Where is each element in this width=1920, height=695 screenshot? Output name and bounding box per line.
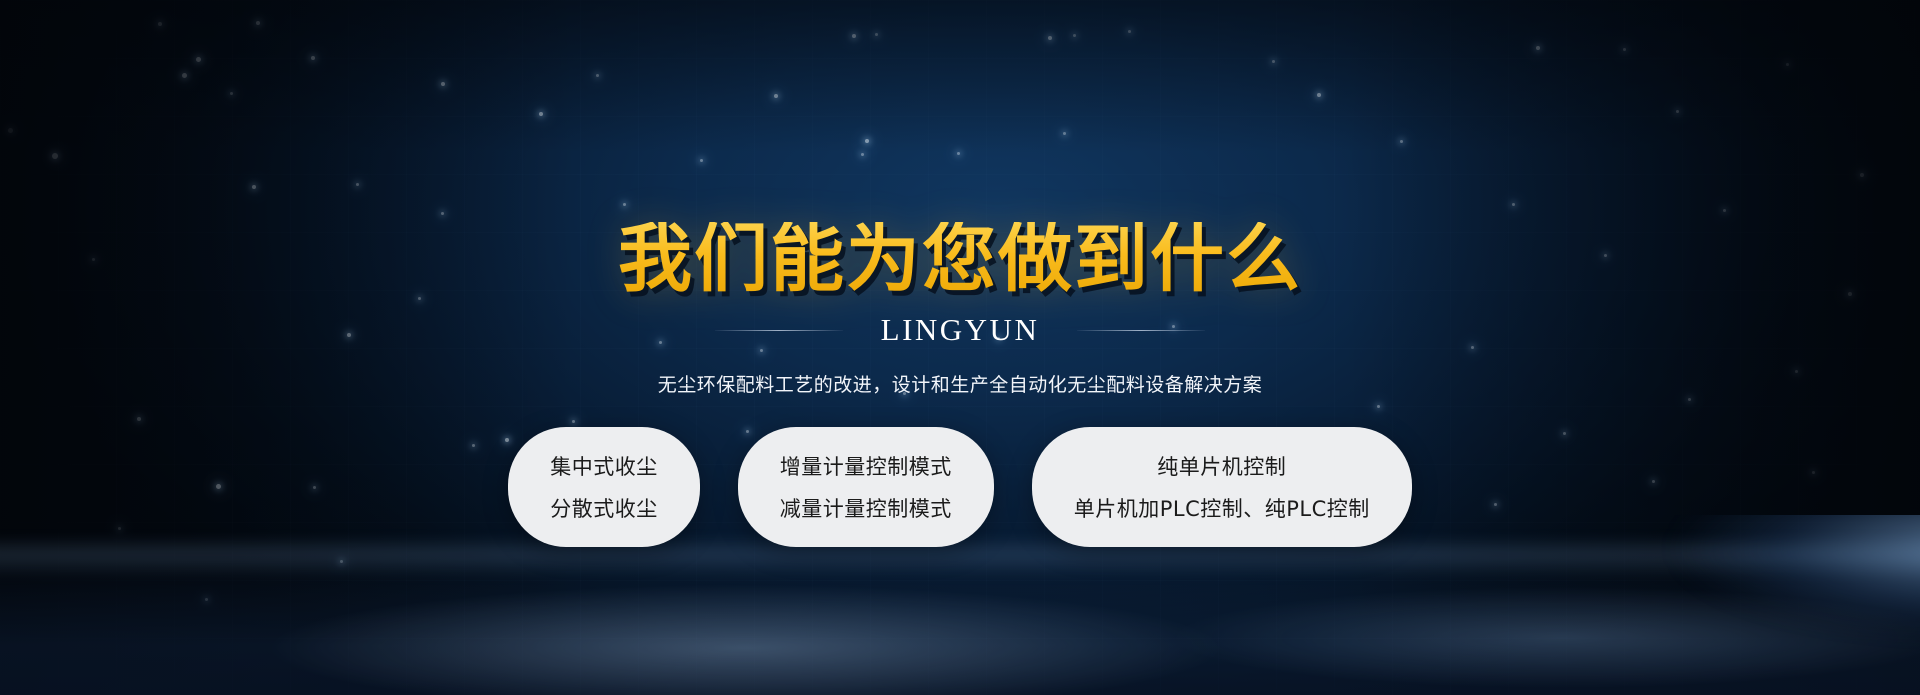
feature-card-3-line-2: 单片机加PLC控制、纯PLC控制 <box>1074 493 1370 523</box>
feature-card-1-line-2: 分散式收尘 <box>550 493 658 523</box>
banner-content: 我们能为您做到什么 LINGYUN 无尘环保配料工艺的改进，设计和生产全自动化无… <box>0 0 1920 695</box>
feature-card-1[interactable]: 集中式收尘 分散式收尘 <box>508 427 700 547</box>
divider-line-right <box>1077 330 1205 331</box>
feature-card-3[interactable]: 纯单片机控制 单片机加PLC控制、纯PLC控制 <box>1032 427 1412 547</box>
feature-card-2-line-2: 减量计量控制模式 <box>780 493 952 523</box>
brand-subtitle: LINGYUN <box>881 312 1040 348</box>
feature-card-2-line-1: 增量计量控制模式 <box>780 451 952 481</box>
hero-banner: 我们能为您做到什么 LINGYUN 无尘环保配料工艺的改进，设计和生产全自动化无… <box>0 0 1920 695</box>
feature-card-list: 集中式收尘 分散式收尘 增量计量控制模式 减量计量控制模式 纯单片机控制 单片机… <box>508 427 1412 547</box>
subtitle-row: LINGYUN <box>715 312 1206 348</box>
feature-card-3-line-1: 纯单片机控制 <box>1157 451 1286 481</box>
divider-line-left <box>715 330 843 331</box>
feature-card-1-line-1: 集中式收尘 <box>550 451 658 481</box>
page-title: 我们能为您做到什么 <box>618 222 1302 296</box>
feature-card-2[interactable]: 增量计量控制模式 减量计量控制模式 <box>738 427 994 547</box>
banner-description: 无尘环保配料工艺的改进，设计和生产全自动化无尘配料设备解决方案 <box>658 370 1263 397</box>
